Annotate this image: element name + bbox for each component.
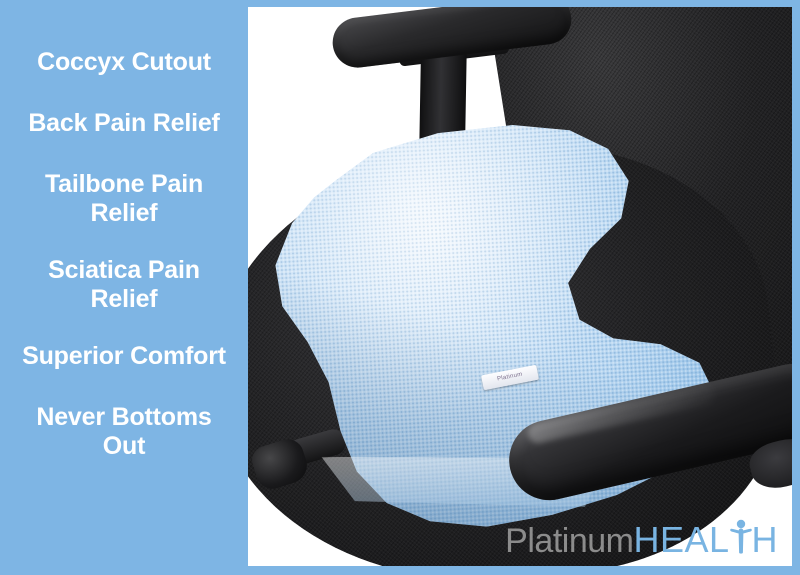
logo-health-text: HEAL bbox=[633, 519, 729, 561]
logo-h-text: H bbox=[752, 519, 779, 561]
frame-border-top bbox=[0, 0, 800, 7]
benefit-item: Coccyx Cutout bbox=[17, 48, 231, 77]
frame-border-bottom bbox=[0, 566, 800, 575]
seat-cushion bbox=[250, 106, 741, 542]
benefit-item: Superior Comfort bbox=[17, 342, 231, 371]
person-figure-icon bbox=[730, 514, 752, 552]
frame-border-left bbox=[0, 0, 3, 575]
benefit-item: Tailbone Pain Relief bbox=[17, 170, 231, 228]
benefits-panel: Coccyx Cutout Back Pain Relief Tailbone … bbox=[0, 0, 248, 575]
benefit-item: Never Bottoms Out bbox=[17, 403, 231, 461]
product-photo: Platinum bbox=[248, 0, 800, 575]
frame-border-right bbox=[792, 0, 800, 575]
benefit-item: Sciatica Pain Relief bbox=[17, 256, 231, 314]
product-marketing-image: Platinum Coccyx Cutout Back Pain Relief … bbox=[0, 0, 800, 575]
benefit-item: Back Pain Relief bbox=[17, 109, 231, 138]
brand-logo: Platinum HEAL H bbox=[505, 514, 778, 561]
logo-platinum-text: Platinum bbox=[505, 522, 633, 561]
